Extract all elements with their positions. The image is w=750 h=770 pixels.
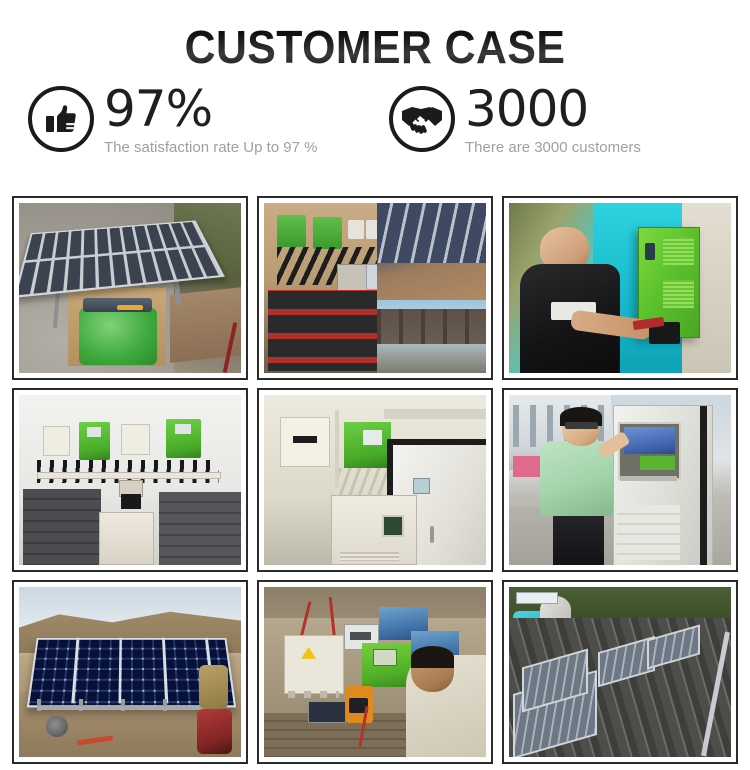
case-photo-cell-6[interactable] xyxy=(502,388,738,572)
stat-satisfaction-caption: The satisfaction rate Up to 97 % xyxy=(104,134,317,157)
case-photo-gallery xyxy=(12,196,738,764)
case-photo-cell-8[interactable] xyxy=(257,580,493,764)
case-photo-cell-4[interactable] xyxy=(12,388,248,572)
case-photo-cell-3[interactable] xyxy=(502,196,738,380)
case-photo-cell-7[interactable] xyxy=(12,580,248,764)
case-photo-cell-1[interactable] xyxy=(12,196,248,380)
case-photo-cell-5[interactable] xyxy=(257,388,493,572)
stat-customers-caption: There are 3000 customers xyxy=(465,134,641,157)
case-photo-3 xyxy=(509,203,731,373)
case-photo-5 xyxy=(264,395,486,565)
handshake-icon xyxy=(389,86,455,152)
stat-customers-value: 3000 xyxy=(465,84,641,134)
thumbs-up-icon xyxy=(28,86,94,152)
page-title: CUSTOMER CASE xyxy=(26,0,724,70)
case-photo-4 xyxy=(19,395,241,565)
case-photo-8 xyxy=(264,587,486,757)
case-photo-7 xyxy=(19,587,241,757)
stat-satisfaction: 97% The satisfaction rate Up to 97 % xyxy=(28,84,371,157)
stat-customers: 3000 There are 3000 customers xyxy=(371,84,732,157)
case-photo-6 xyxy=(509,395,731,565)
case-photo-2 xyxy=(264,203,486,373)
stats-row: 97% The satisfaction rate Up to 97 % xyxy=(0,70,750,162)
case-photo-1 xyxy=(19,203,241,373)
stat-satisfaction-value: 97% xyxy=(104,84,317,134)
customer-case-section: CUSTOMER CASE 97% The satisfaction rate … xyxy=(0,0,750,770)
stat-satisfaction-text: 97% The satisfaction rate Up to 97 % xyxy=(94,84,317,157)
stat-customers-text: 3000 There are 3000 customers xyxy=(455,84,641,157)
case-photo-9 xyxy=(509,587,731,757)
case-photo-cell-9[interactable] xyxy=(502,580,738,764)
case-photo-cell-2[interactable] xyxy=(257,196,493,380)
